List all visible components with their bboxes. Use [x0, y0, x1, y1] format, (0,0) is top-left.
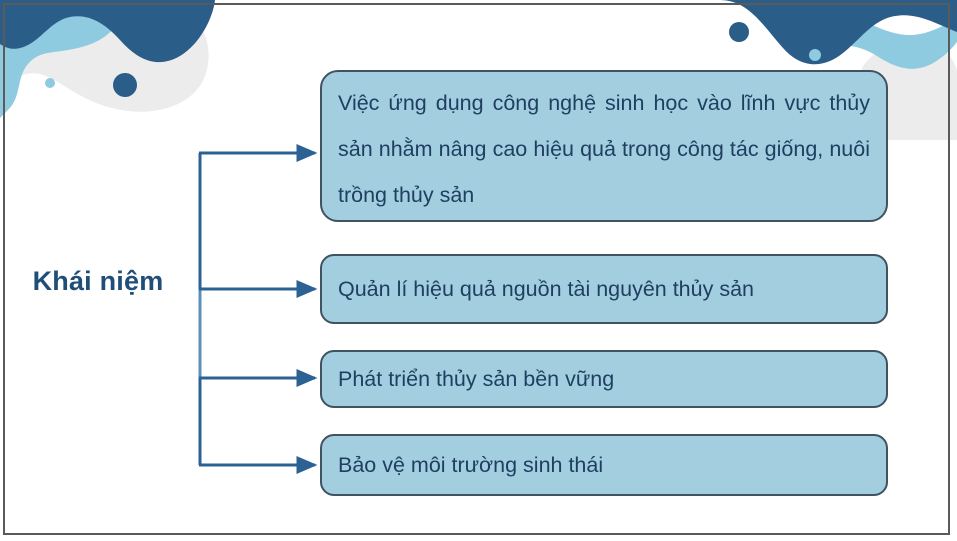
slide-canvas: Khái niệm Việc ứng dụng công nghệ sinh h… — [0, 0, 957, 541]
concept-box-2[interactable]: Quản lí hiệu quả nguồn tài nguyên thủy s… — [320, 254, 888, 324]
blob-light-blue-right-icon — [805, 16, 957, 69]
decoration-top-left — [0, 0, 240, 150]
concept-box-4-label: Bảo vệ môi trường sinh thái — [338, 442, 870, 488]
concept-box-4[interactable]: Bảo vệ môi trường sinh thái — [320, 434, 888, 496]
concept-box-3[interactable]: Phát triển thủy sản bền vững — [320, 350, 888, 408]
dot-small-light-icon — [45, 78, 55, 88]
dot-large-dark-icon — [113, 73, 137, 97]
concept-box-1[interactable]: Việc ứng dụng công nghệ sinh học vào lĩn… — [320, 70, 888, 222]
dot-small-light-right-icon — [809, 49, 821, 61]
concept-box-2-label: Quản lí hiệu quả nguồn tài nguyên thủy s… — [338, 266, 870, 312]
blob-light-blue-icon — [0, 0, 120, 118]
concept-box-1-label: Việc ứng dụng công nghệ sinh học vào lĩn… — [338, 80, 870, 218]
page-title: Khái niệm — [0, 266, 196, 297]
concept-box-3-label: Phát triển thủy sản bền vững — [338, 356, 870, 402]
dot-large-dark-right-icon — [729, 22, 749, 42]
blob-dark-blue-right-icon — [717, 0, 957, 64]
blob-gray-icon — [0, 3, 209, 112]
blob-dark-blue-icon — [0, 0, 215, 62]
